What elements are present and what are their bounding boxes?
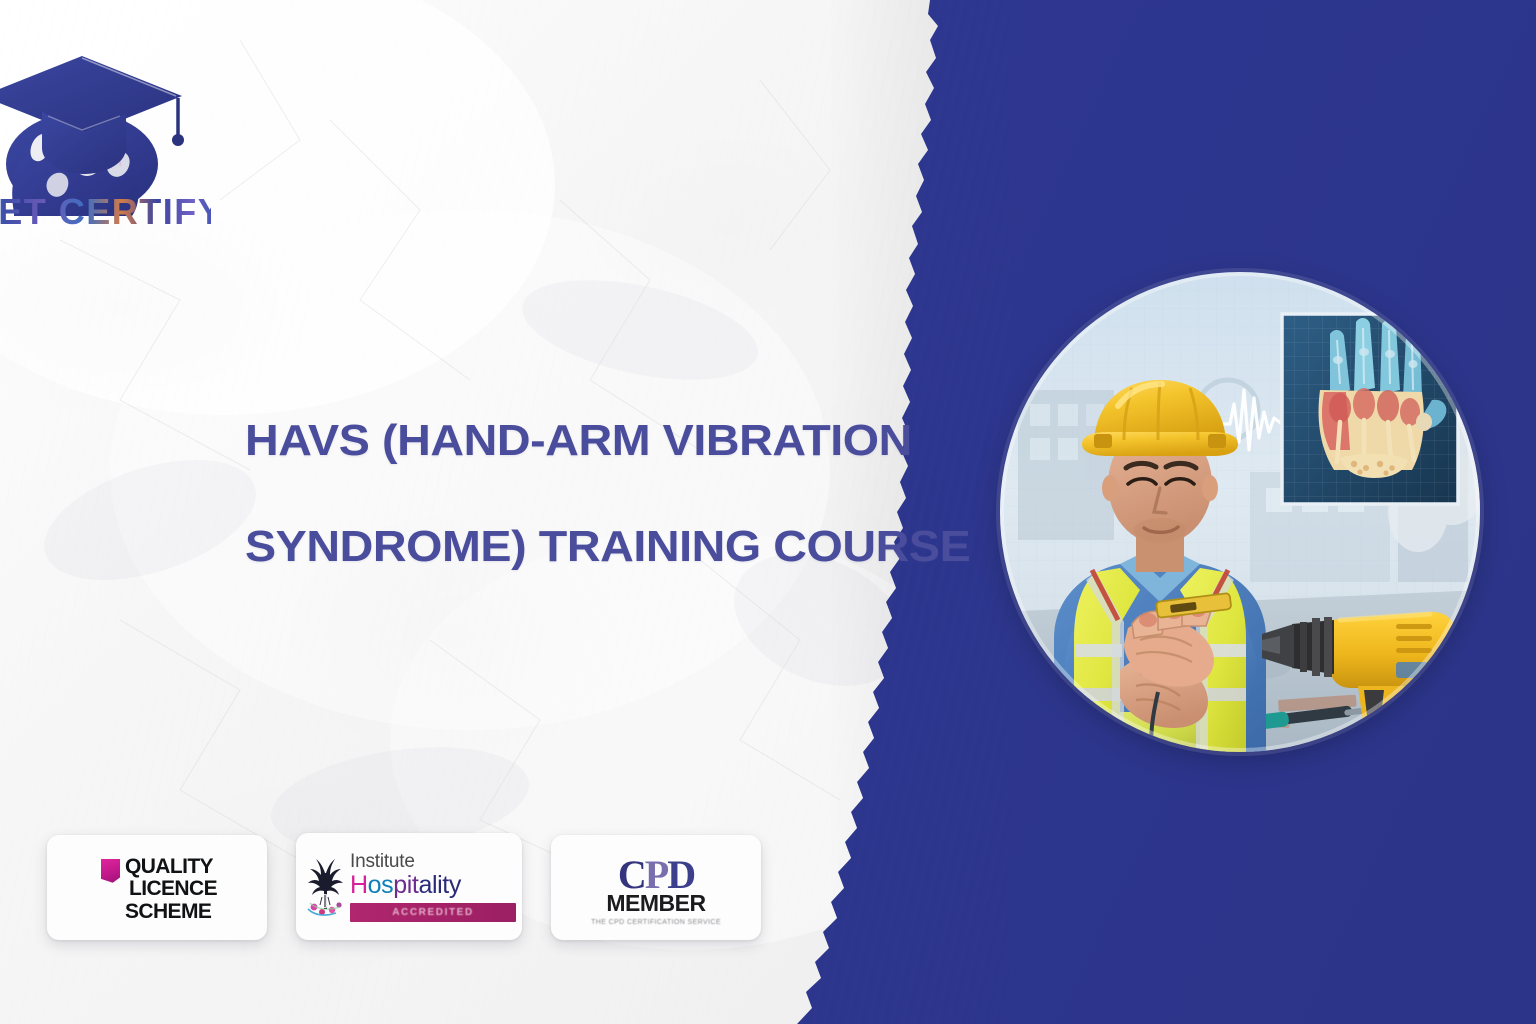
cpd-fine-print: THE CPD CERTIFICATION SERVICE: [591, 919, 721, 926]
qls-line-3: SCHEME: [125, 901, 217, 924]
ih-accreditation-bar: ACCREDITED: [350, 903, 516, 922]
qls-line-2: LICENCE: [125, 878, 217, 901]
get-certify-logo[interactable]: GET CERTIFY: [0, 24, 211, 239]
institute-hospitality-emblem-icon: [302, 857, 348, 917]
accreditation-badges: QUALITY LICENCE SCHEME: [47, 833, 761, 940]
cpd-member-label: MEMBER: [591, 891, 721, 916]
logo-wordmark: GET CERTIFY: [0, 191, 211, 232]
title-line-2: SYNDROME) TRAINING COURSE: [245, 494, 923, 600]
badge-cpd-member[interactable]: CPD MEMBER THE CPD CERTIFICATION SERVICE: [551, 835, 761, 940]
qls-line-1: QUALITY: [125, 856, 217, 879]
cpd-acronym: CPD: [591, 855, 721, 895]
ih-line-1: Institute: [350, 851, 516, 872]
havs-hero-image: [1000, 272, 1480, 752]
ih-bar-text: ACCREDITED: [392, 907, 474, 918]
course-banner: GET CERTIFY HAVS (HAND-ARM VIBRATION SYN…: [0, 0, 1536, 1024]
quality-licence-book-icon: [101, 859, 120, 883]
ih-line-2: Hospitality: [350, 872, 516, 899]
havs-hero-illustration: [1000, 272, 1480, 752]
badge-institute-hospitality[interactable]: Institute Hospitality ACCREDITED: [296, 833, 522, 940]
badge-quality-licence-scheme[interactable]: QUALITY LICENCE SCHEME: [47, 835, 267, 940]
page-title: HAVS (HAND-ARM VIBRATION SYNDROME) TRAIN…: [245, 388, 885, 600]
title-line-1: HAVS (HAND-ARM VIBRATION: [245, 388, 923, 494]
